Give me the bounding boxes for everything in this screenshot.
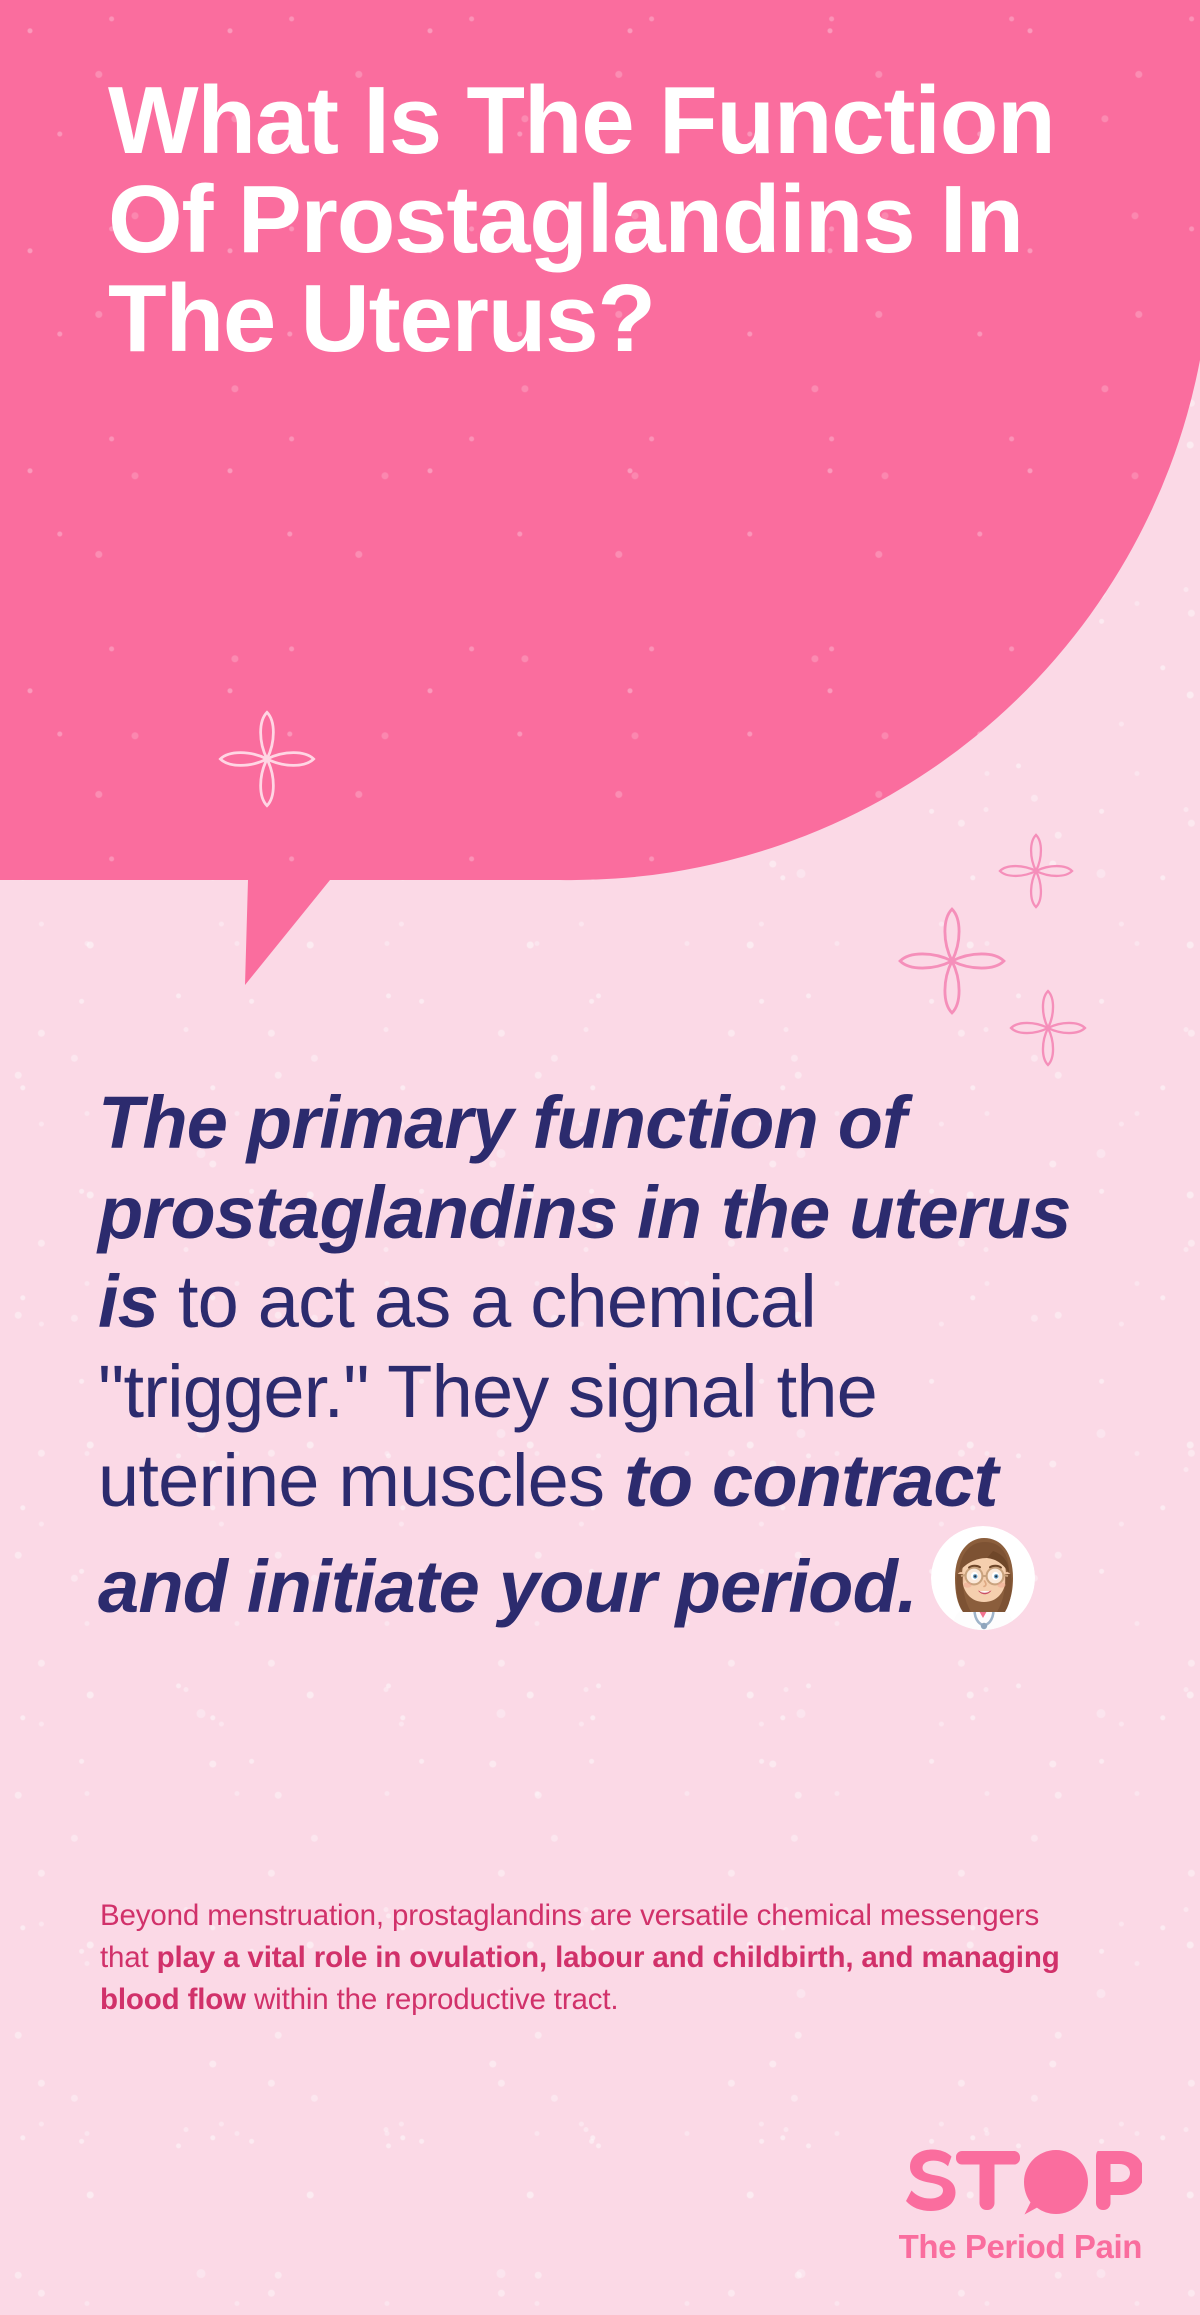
main-statement: The primary function of prostaglandins i… — [98, 1078, 1098, 1631]
brand-logo[interactable]: The Period Pain — [842, 2143, 1142, 2263]
page-title: What Is The Function Of Prostaglandins I… — [108, 72, 1118, 369]
avatar — [931, 1526, 1035, 1630]
support-plain-close: within the reproductive tract. — [246, 1983, 618, 2016]
stop-wordmark-icon — [906, 2143, 1142, 2221]
support-paragraph: Beyond menstruation, prostaglandins are … — [100, 1895, 1065, 2021]
logo-tagline: The Period Pain — [842, 2230, 1142, 2263]
infographic-poster: What Is The Function Of Prostaglandins I… — [0, 0, 1200, 2315]
